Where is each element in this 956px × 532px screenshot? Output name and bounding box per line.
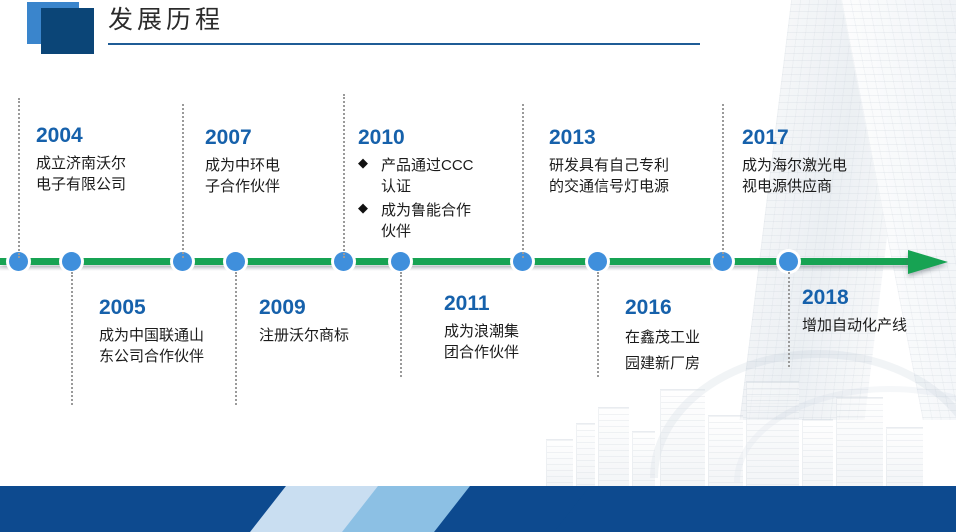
connector-line-2016 bbox=[597, 272, 601, 377]
entry-description-2007: 成为中环电子合作伙伴 bbox=[205, 155, 335, 198]
timeline-node-2005[interactable] bbox=[62, 252, 81, 271]
timeline-entry-2009[interactable]: 2009注册沃尔商标 bbox=[259, 296, 409, 346]
entry-bullet-item: ◆产品通过CCC认证 bbox=[358, 155, 518, 198]
entry-year-2011: 2011 bbox=[444, 292, 584, 315]
entry-year-2009: 2009 bbox=[259, 296, 409, 319]
title-underline bbox=[108, 43, 700, 45]
entry-year-2010: 2010 bbox=[358, 126, 518, 149]
timeline-entry-2010[interactable]: 2010◆产品通过CCC认证◆成为鲁能合作伙伴 bbox=[358, 126, 518, 244]
entry-description-2016: 在鑫茂工业园建新厂房 bbox=[625, 325, 765, 378]
connector-line-2011 bbox=[400, 272, 404, 377]
connector-line-2009 bbox=[235, 272, 239, 405]
connector-line-2013 bbox=[522, 104, 526, 258]
entry-bullet-text: 产品通过CCC认证 bbox=[381, 157, 474, 195]
timeline-node-2018[interactable] bbox=[779, 252, 798, 271]
timeline-entry-2013[interactable]: 2013研发具有自己专利的交通信号灯电源 bbox=[549, 126, 729, 198]
entry-year-2017: 2017 bbox=[742, 126, 912, 149]
entry-description-2018: 增加自动化产线 bbox=[802, 315, 952, 336]
timeline-node-2016[interactable] bbox=[588, 252, 607, 271]
entry-year-2013: 2013 bbox=[549, 126, 729, 149]
connector-line-2004 bbox=[18, 98, 22, 258]
bottom-chevron-dark bbox=[434, 486, 590, 532]
entry-year-2016: 2016 bbox=[625, 296, 765, 319]
entry-description-2009: 注册沃尔商标 bbox=[259, 325, 409, 346]
timeline-entry-2017[interactable]: 2017成为海尔激光电视电源供应商 bbox=[742, 126, 912, 198]
title-accent-square-dark bbox=[41, 8, 94, 54]
entry-year-2004: 2004 bbox=[36, 124, 176, 147]
bottom-chevron-mid bbox=[342, 486, 476, 532]
bottom-bar bbox=[0, 486, 956, 532]
timeline-node-2009[interactable] bbox=[226, 252, 245, 271]
timeline-node-2011[interactable] bbox=[391, 252, 410, 271]
slide-canvas: 发展历程 2004成立济南沃尔电子有限公司2007成为中环电子合作伙伴2010◆… bbox=[0, 0, 956, 532]
entry-description-2004: 成立济南沃尔电子有限公司 bbox=[36, 153, 176, 196]
entry-description-2013: 研发具有自己专利的交通信号灯电源 bbox=[549, 155, 729, 198]
connector-line-2017 bbox=[722, 104, 726, 258]
entry-bullet-item: ◆成为鲁能合作伙伴 bbox=[358, 200, 518, 243]
timeline-arrow-icon bbox=[908, 250, 948, 274]
entry-year-2007: 2007 bbox=[205, 126, 335, 149]
entry-bullet-list-2010: ◆产品通过CCC认证◆成为鲁能合作伙伴 bbox=[358, 155, 518, 242]
entry-description-2017: 成为海尔激光电视电源供应商 bbox=[742, 155, 912, 198]
timeline-entry-2004[interactable]: 2004成立济南沃尔电子有限公司 bbox=[36, 124, 176, 196]
page-title: 发展历程 bbox=[108, 7, 224, 32]
slide-header: 发展历程 bbox=[0, 0, 956, 62]
connector-line-2005 bbox=[71, 272, 75, 405]
timeline-entry-2011[interactable]: 2011成为浪潮集团合作伙伴 bbox=[444, 292, 584, 364]
entry-bullet-text: 成为鲁能合作伙伴 bbox=[381, 202, 471, 240]
connector-line-2010 bbox=[343, 94, 347, 258]
entry-description-2011: 成为浪潮集团合作伙伴 bbox=[444, 321, 584, 364]
connector-line-2007 bbox=[182, 104, 186, 258]
entry-year-2018: 2018 bbox=[802, 286, 952, 309]
connector-line-2018 bbox=[788, 272, 792, 367]
bottom-chevron-light bbox=[250, 486, 384, 532]
timeline-entry-2016[interactable]: 2016在鑫茂工业园建新厂房 bbox=[625, 296, 765, 378]
timeline-entry-2007[interactable]: 2007成为中环电子合作伙伴 bbox=[205, 126, 335, 198]
diamond-bullet-icon: ◆ bbox=[358, 154, 368, 172]
diamond-bullet-icon: ◆ bbox=[358, 199, 368, 217]
timeline-entry-2018[interactable]: 2018增加自动化产线 bbox=[802, 286, 952, 336]
